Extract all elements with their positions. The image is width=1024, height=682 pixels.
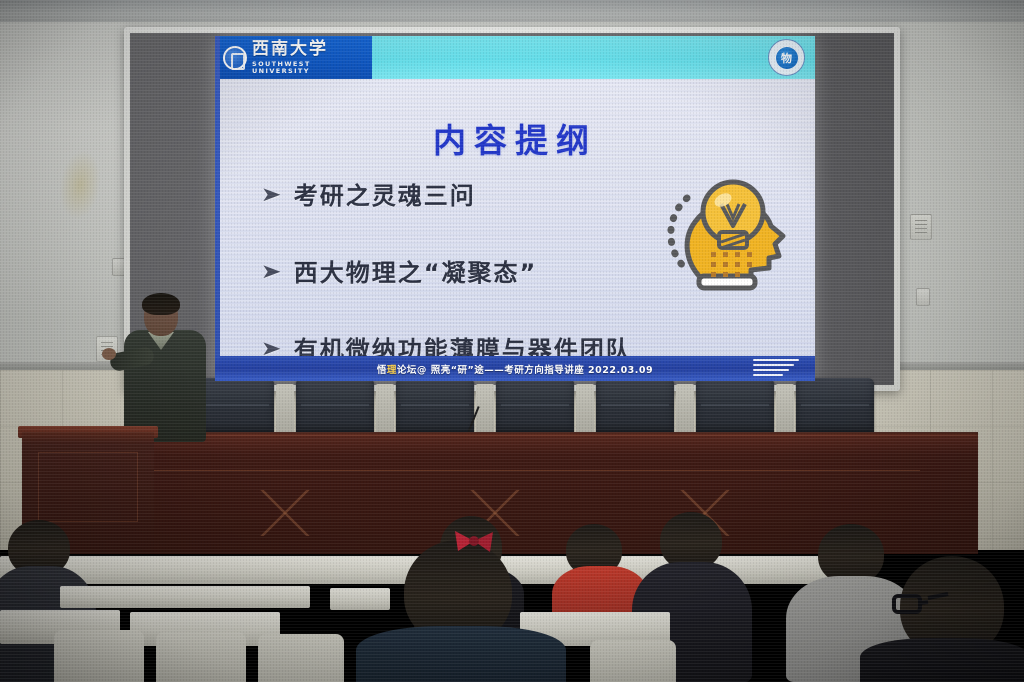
footer-highlight: 理 — [387, 365, 397, 376]
bullet-text-1: 考研之灵魂三问 — [294, 176, 476, 211]
red-hair-bow — [452, 528, 496, 554]
bullet-arrow-icon: ➤ — [261, 184, 284, 204]
university-name-cn: 西南大学 — [252, 41, 372, 58]
slide-bullet-list: ➤ 考研之灵魂三问 ➤ 西大物理之“凝聚态” ➤ 有机微纳功能薄膜与器件团队 — [263, 176, 733, 381]
footer-date: 2022.03.09 — [588, 365, 653, 376]
slide-title: 内容提纲 — [215, 114, 815, 162]
bullet-item-1: ➤ 考研之灵魂三问 — [263, 176, 733, 211]
bullet-arrow-icon: ➤ — [261, 261, 284, 281]
slide-header: 西南大学 SOUTHWEST UNIVERSITY 物 — [215, 36, 815, 79]
audience-desk-mid-2 — [330, 588, 390, 610]
footer-body: 论坛@ 照亮“研”途——考研方向指导讲座 — [397, 365, 584, 376]
physics-department-seal: 物 — [768, 39, 805, 76]
southwest-university-logo: 西南大学 SOUTHWEST UNIVERSITY — [215, 36, 372, 79]
slide-footer-bar: 悟理论坛@ 照亮“研”途——考研方向指导讲座 2022.03.09 — [215, 356, 815, 381]
student-gray-hoodie-head — [818, 524, 884, 584]
slide-footer-text: 悟理论坛@ 照亮“研”途——考研方向指导讲座 2022.03.09 — [377, 362, 653, 376]
student-glasses-torso — [860, 638, 1024, 682]
audience-desk-mid-1 — [60, 586, 310, 608]
lecture-hall-scene: 西南大学 SOUTHWEST UNIVERSITY 物 内容提纲 ➤ 考研之灵魂… — [0, 0, 1024, 682]
footer-prefix: 悟 — [377, 365, 387, 376]
audience-seat-back — [258, 634, 344, 682]
footer-decoration-lines — [753, 359, 799, 375]
audience-seat-back — [54, 630, 144, 682]
audience-seat-back — [590, 640, 676, 682]
bullet-item-2: ➤ 西大物理之“凝聚态” — [263, 253, 733, 288]
university-name-en: SOUTHWEST UNIVERSITY — [252, 61, 372, 74]
audience-seat-back — [156, 632, 246, 682]
student-center-front-torso — [356, 626, 566, 682]
bullet-arrow-icon: ➤ — [261, 338, 284, 358]
bullet-text-2: 西大物理之“凝聚态” — [294, 253, 538, 288]
black-framed-glasses-icon — [892, 592, 952, 616]
department-seal-glyph: 物 — [776, 47, 798, 69]
university-seal-icon — [223, 46, 247, 70]
slide-accent-bar — [215, 36, 220, 381]
